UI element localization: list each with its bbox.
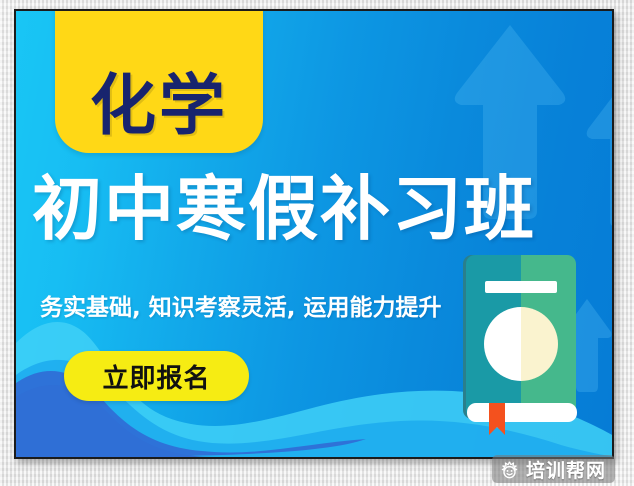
poster-page: 化学 初中寒假补习班 务实基础, 知识考察灵活, 运用能力提升 立即报名 — [0, 0, 634, 486]
subject-badge: 化学 — [55, 11, 263, 153]
headline: 初中寒假补习班 — [32, 174, 607, 244]
enroll-now-button-label: 立即报名 — [102, 358, 210, 395]
watermark-text: 培训帮网 — [526, 456, 606, 483]
watermark: 培训帮网 — [492, 455, 615, 483]
course-banner[interactable]: 化学 初中寒假补习班 务实基础, 知识考察灵活, 运用能力提升 立即报名 — [14, 9, 614, 459]
book-icon — [457, 251, 585, 436]
subject-badge-label: 化学 — [90, 73, 228, 139]
smiley-sun-icon — [499, 459, 520, 480]
banner-canvas: 化学 初中寒假补习班 务实基础, 知识考察灵活, 运用能力提升 立即报名 — [16, 11, 612, 457]
subheadline: 务实基础, 知识考察灵活, 运用能力提升 — [40, 288, 442, 322]
enroll-now-button[interactable]: 立即报名 — [64, 351, 249, 401]
